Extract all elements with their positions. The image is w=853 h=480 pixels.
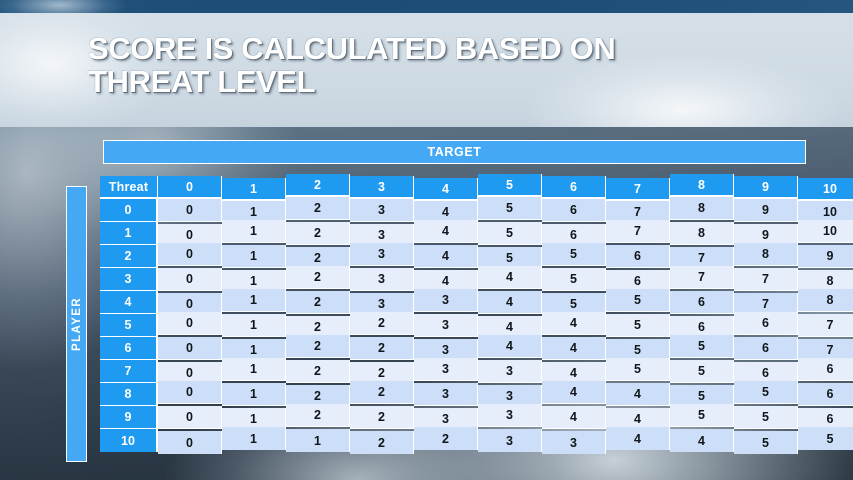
matrix-row-header: 4 [100,291,158,314]
matrix-cell: 6 [606,245,670,268]
matrix-cell: 2 [350,312,414,335]
player-axis-label-bar: PLAYER [66,186,87,462]
matrix-cell: 3 [478,404,542,427]
matrix-cell: 6 [734,312,798,335]
table-row: 701223345566 [100,360,853,383]
matrix-cell: 5 [734,381,798,404]
matrix-cell: 3 [478,360,542,383]
matrix-cell: 3 [542,431,606,454]
table-row: 301234456778 [100,268,853,291]
matrix-column-header: 4 [414,178,478,201]
matrix-cell: 0 [158,381,222,404]
matrix-row-header: 7 [100,360,158,383]
matrix-cell: 6 [670,291,734,314]
matrix-cell: 4 [606,427,670,450]
table-row: 401233455678 [100,291,853,314]
matrix-cell: 5 [798,427,853,450]
matrix-column-header: 0 [158,176,222,199]
score-matrix-table: Threat 012345678910 00123456789101012345… [100,176,853,452]
table-row: 601223445567 [100,337,853,360]
matrix-column-header: 5 [478,174,542,197]
matrix-cell: 4 [542,381,606,404]
matrix-cell: 4 [414,245,478,268]
matrix-cell: 6 [798,358,853,381]
matrix-cell: 0 [158,268,222,291]
table-row: 501223445667 [100,314,853,337]
matrix-cell: 5 [542,243,606,266]
matrix-cell: 3 [350,268,414,291]
target-axis-label-text: TARGET [427,145,481,159]
matrix-cell: 4 [478,335,542,358]
matrix-header: Threat 012345678910 [100,176,853,199]
matrix-cell: 6 [734,337,798,360]
matrix-cell: 3 [414,289,478,312]
matrix-row-header: 1 [100,222,158,245]
matrix-cell: 9 [734,199,798,222]
matrix-column-header: 8 [670,174,734,197]
matrix-cell: 4 [542,406,606,429]
matrix-row-header: 9 [100,406,158,429]
matrix-cell: 3 [350,199,414,222]
matrix-cell: 2 [286,335,350,358]
matrix-cell: 2 [350,337,414,360]
matrix-cell: 2 [286,222,350,245]
matrix-row-header: 0 [100,199,158,222]
matrix-cell: 5 [734,431,798,454]
matrix-column-header: 2 [286,174,350,197]
matrix-cell: 10 [798,220,853,243]
matrix-cell: 0 [158,431,222,454]
matrix-cell: 2 [286,197,350,220]
matrix-cell: 6 [542,199,606,222]
matrix-cell: 2 [350,431,414,454]
table-row: 0012345678910 [100,199,853,222]
matrix-cell: 0 [158,406,222,429]
slide: SCORE IS CALCULATED BASED ON THREAT LEVE… [0,0,853,480]
matrix-cell: 8 [670,222,734,245]
matrix-cell: 1 [222,427,286,450]
table-row: 801223344556 [100,383,853,406]
matrix-column-header: 10 [798,178,853,201]
matrix-cell: 2 [350,381,414,404]
matrix-cell: 5 [670,360,734,383]
matrix-cell: 5 [670,404,734,427]
matrix-cell: 2 [286,291,350,314]
matrix-cell: 2 [350,406,414,429]
matrix-corner-header: Threat [100,176,158,199]
matrix-cell: 1 [222,314,286,337]
matrix-cell: 1 [222,383,286,406]
matrix-cell: 1 [222,289,286,312]
matrix-cell: 4 [542,337,606,360]
matrix-body: 0012345678910101234567891020123455678930… [100,199,853,452]
sky-top-band [0,0,853,13]
player-axis-label-text: PLAYER [71,297,83,351]
matrix-cell: 7 [734,268,798,291]
matrix-cell: 8 [670,197,734,220]
target-axis-label-bar: TARGET [103,140,806,164]
matrix-column-header: 9 [734,176,798,199]
table-row: 1012345678910 [100,222,853,245]
page-title: SCORE IS CALCULATED BASED ON THREAT LEVE… [88,32,708,98]
matrix-cell: 5 [734,406,798,429]
matrix-cell: 5 [542,268,606,291]
matrix-cell: 4 [606,383,670,406]
matrix-row-header: 6 [100,337,158,360]
matrix-cell: 2 [286,404,350,427]
matrix-cell: 1 [222,245,286,268]
matrix-cell: 0 [158,312,222,335]
matrix-cell: 4 [670,429,734,452]
matrix-cell: 0 [158,199,222,222]
matrix-cell: 8 [734,243,798,266]
table-row: 1001122334455 [100,429,853,452]
matrix-row-header: 3 [100,268,158,291]
matrix-cell: 4 [478,266,542,289]
matrix-cell: 2 [286,360,350,383]
matrix-cell: 1 [222,220,286,243]
matrix-cell: 2 [414,427,478,450]
matrix-cell: 9 [798,245,853,268]
matrix-cell: 3 [414,383,478,406]
matrix-cell: 5 [478,222,542,245]
matrix-cell: 4 [542,312,606,335]
matrix-cell: 6 [798,383,853,406]
matrix-row-header: 10 [100,429,158,452]
matrix-cell: 4 [414,220,478,243]
matrix-header-row: Threat 012345678910 [100,176,853,199]
matrix-row-header: 8 [100,383,158,406]
matrix-cell: 2 [286,266,350,289]
matrix-cell: 5 [670,335,734,358]
matrix-cell: 4 [478,291,542,314]
matrix-cell: 0 [158,337,222,360]
matrix-cell: 5 [606,358,670,381]
matrix-cell: 0 [158,243,222,266]
matrix-cell: 3 [350,243,414,266]
table-row: 901223344556 [100,406,853,429]
matrix-cell: 7 [606,220,670,243]
matrix-cell: 1 [222,358,286,381]
matrix-column-header: 7 [606,178,670,201]
matrix-cell: 8 [798,289,853,312]
matrix-cell: 7 [670,266,734,289]
matrix-cell: 5 [478,197,542,220]
matrix-row-header: 5 [100,314,158,337]
matrix-cell: 1 [286,429,350,452]
matrix-column-header: 1 [222,178,286,201]
matrix-cell: 5 [606,289,670,312]
matrix-cell: 7 [798,314,853,337]
matrix-row-header: 2 [100,245,158,268]
matrix-cell: 5 [606,314,670,337]
matrix-cell: 3 [478,429,542,452]
matrix-cell: 3 [414,358,478,381]
matrix-cell: 3 [414,314,478,337]
matrix-column-header: 3 [350,176,414,199]
matrix-column-header: 6 [542,176,606,199]
table-row: 201234556789 [100,245,853,268]
